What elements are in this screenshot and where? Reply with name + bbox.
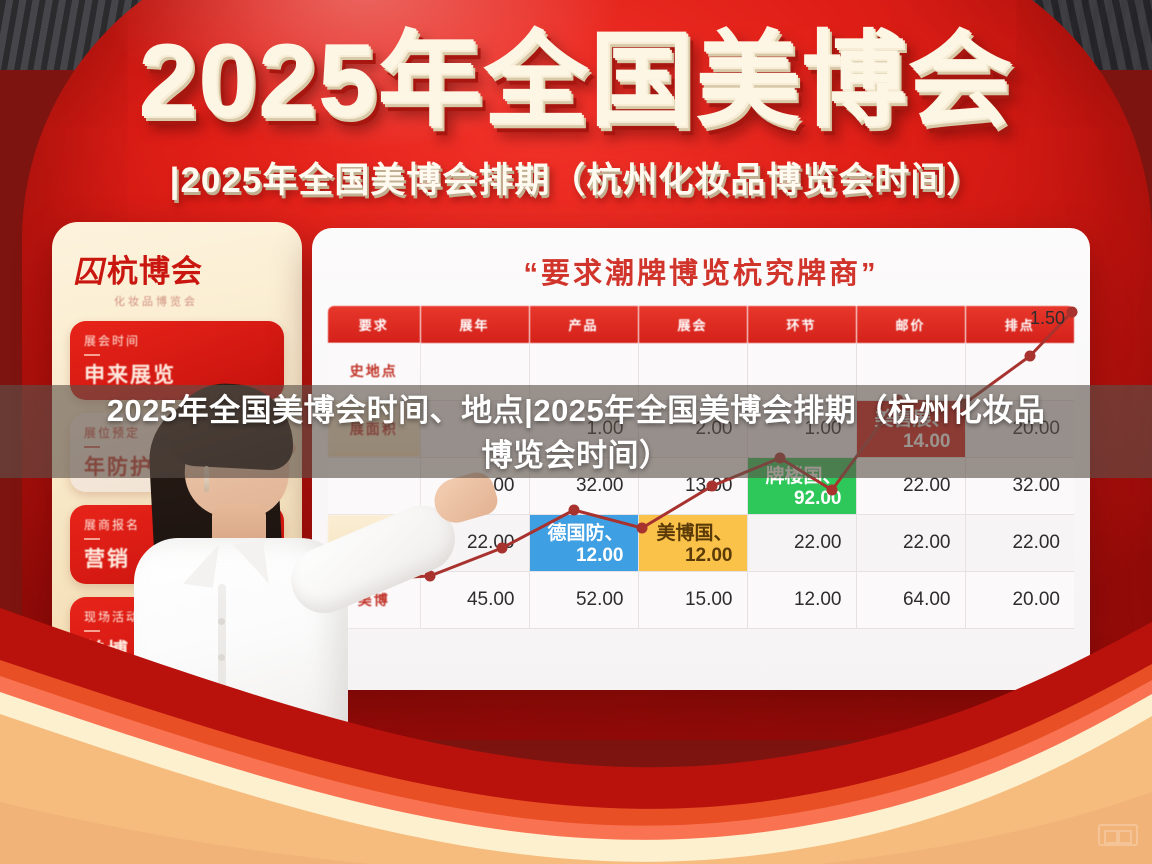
- event-headline: 2025年全国美博会: [0, 28, 1152, 134]
- cell-r3-c1: 德国防、12.00: [529, 514, 638, 571]
- caption-text: 2025年全国美博会时间、地点|2025年全国美博会排期（杭州化妆品 博览会时间…: [0, 388, 1152, 478]
- panel-title: “要求潮牌博览杭究牌商”: [328, 250, 1074, 292]
- caption-line-2: 博览会时间）: [0, 433, 1152, 478]
- poster-card-1-tag: 展会时间: [84, 334, 140, 348]
- logo-subtitle: 化妆品博览会: [114, 293, 286, 309]
- divider: [84, 354, 100, 356]
- cell-r3-c4: 22.00: [856, 514, 965, 571]
- cell-r3-c2: 美博国、12.00: [638, 514, 747, 571]
- logo-name: 杭博会: [107, 246, 203, 291]
- watermark-icon: [1098, 824, 1138, 846]
- table-header-row: 要求展年产品展会环节邮价排点: [328, 306, 1074, 343]
- column-header-2: 产品: [529, 306, 638, 343]
- cell-r3-c5: 22.00: [965, 514, 1074, 571]
- stage-wave-ribbons: [0, 564, 1152, 864]
- caption-line-1: 2025年全国美博会时间、地点|2025年全国美博会排期（杭州化妆品: [0, 388, 1152, 433]
- column-header-5: 邮价: [856, 306, 965, 343]
- poster-logo: 囚 杭博会: [76, 246, 286, 291]
- wave-svg: [0, 564, 1152, 864]
- column-header-0: 要求: [328, 306, 420, 343]
- column-header-4: 环节: [747, 306, 856, 343]
- panel-title-text: 要求潮牌博览杭究牌商: [541, 258, 861, 290]
- close-quote: ”: [861, 258, 879, 290]
- column-header-3: 展会: [638, 306, 747, 343]
- column-header-1: 展年: [420, 306, 529, 343]
- table-header: 要求展年产品展会环节邮价排点: [328, 306, 1074, 343]
- exhibition-booth-photo: 2025年全国美博会 |2025年全国美博会排期（杭州化妆品博览会时间） 囚 杭…: [0, 0, 1152, 864]
- event-subheadline: |2025年全国美博会排期（杭州化妆品博览会时间）: [0, 152, 1152, 203]
- poster-card-1-title: 申来展览: [84, 364, 176, 387]
- logo-mark-icon: 囚: [71, 247, 105, 291]
- divider: [84, 538, 100, 540]
- cell-r3-c3: 22.00: [747, 514, 856, 571]
- open-quote: “: [523, 258, 541, 290]
- column-header-6: 排点: [965, 306, 1074, 343]
